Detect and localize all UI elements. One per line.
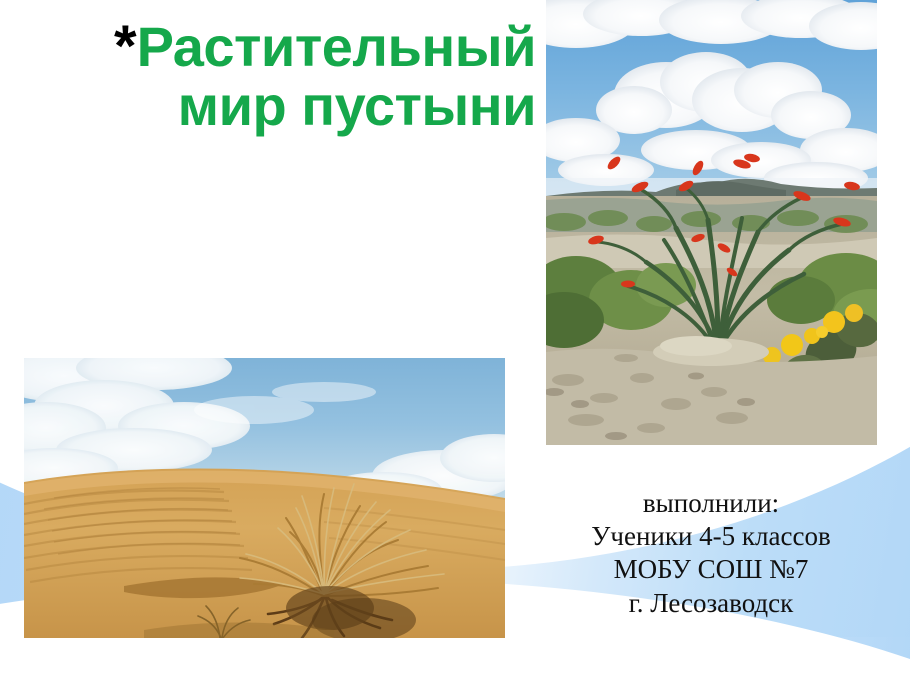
credits-block: выполнили: Ученики 4-5 классов МОБУ СОШ …: [536, 487, 886, 620]
credits-line-2: Ученики 4-5 классов: [536, 520, 886, 553]
credits-line-3: МОБУ СОШ №7: [536, 553, 886, 586]
slide-title: *Растительный мир пустыни: [36, 18, 536, 136]
desert-ocotillo-photo: [546, 0, 877, 445]
desert-ocotillo-artwork: [546, 0, 877, 445]
credits-line-4: г. Лесозаводск: [536, 587, 886, 620]
sand-dune-artwork: [24, 358, 505, 638]
asterisk-bullet-icon: *: [114, 14, 137, 79]
title-line-2: мир пустыни: [178, 74, 536, 137]
title-line-1: Растительный: [137, 15, 536, 78]
credits-line-1: выполнили:: [536, 487, 886, 520]
sand-dune-photo: [24, 358, 505, 638]
slide-canvas: *Растительный мир пустыни: [0, 0, 910, 683]
